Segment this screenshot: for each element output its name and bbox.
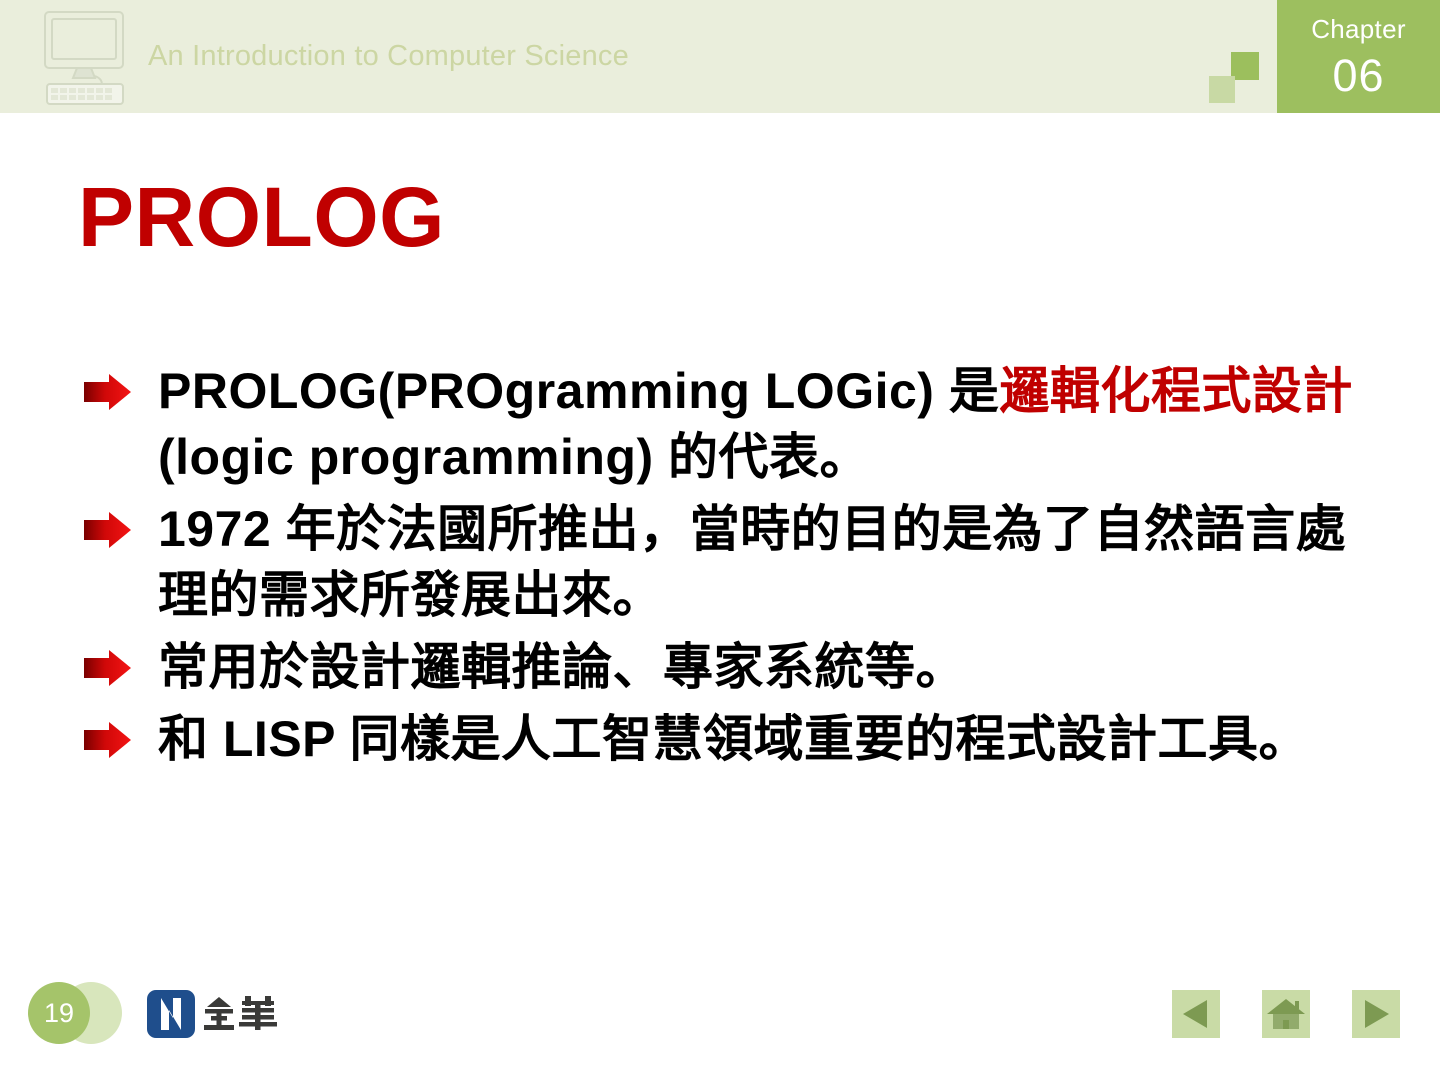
bullet-segment-1: 邏輯化程式設計 xyxy=(999,363,1353,419)
computer-illustration-icon xyxy=(33,8,143,108)
list-item-text: 常用於設計邏輯推論、專家系統等。 xyxy=(158,639,966,695)
previous-slide-button[interactable] xyxy=(1172,990,1220,1038)
list-item: 常用於設計邏輯推論、專家系統等。 xyxy=(82,634,1382,700)
list-item: 和 LISP 同樣是人工智慧領域重要的程式設計工具。 xyxy=(82,706,1382,772)
list-item-text: 和 LISP 同樣是人工智慧領域重要的程式設計工具。 xyxy=(158,711,1309,767)
red-arrow-bullet-icon xyxy=(82,510,134,550)
header-decor-squares xyxy=(1206,52,1266,104)
bullet-segment-0: PROLOG(PROgramming LOGic) 是 xyxy=(158,363,999,419)
square-dark-green-icon xyxy=(1231,52,1259,80)
chuanhwa-logo-icon xyxy=(147,988,307,1040)
red-arrow-bullet-icon xyxy=(82,720,134,760)
triangle-left-icon xyxy=(1172,990,1220,1038)
slide-header: An Introduction to Computer Science Chap… xyxy=(0,0,1440,113)
list-item-text: 1972 年於法國所推出，當時的目的是為了自然語言處理的需求所發展出來。 xyxy=(158,501,1346,623)
list-item: 1972 年於法國所推出，當時的目的是為了自然語言處理的需求所發展出來。 xyxy=(82,496,1382,628)
slide-navigation xyxy=(1172,990,1402,1042)
bullet-list: PROLOG(PROgramming LOGic) 是邏輯化程式設計 (logi… xyxy=(82,358,1382,778)
page-number-badge: 19 xyxy=(22,978,132,1048)
list-item-text: PROLOG(PROgramming LOGic) 是邏輯化程式設計 (logi… xyxy=(158,363,1353,485)
page-number-text: 19 xyxy=(28,982,90,1044)
chapter-badge: Chapter 06 xyxy=(1277,0,1440,113)
bullet-segment-2: (logic programming) 的代表。 xyxy=(158,429,870,485)
chapter-number: 06 xyxy=(1277,50,1440,102)
triangle-right-icon xyxy=(1352,990,1400,1038)
next-slide-button[interactable] xyxy=(1352,990,1400,1038)
square-light-green-icon xyxy=(1209,76,1235,103)
red-arrow-bullet-icon xyxy=(82,648,134,688)
page-title: PROLOG xyxy=(78,175,445,259)
course-title: An Introduction to Computer Science xyxy=(148,40,629,73)
chapter-label: Chapter xyxy=(1277,14,1440,45)
slide-root: An Introduction to Computer Science Chap… xyxy=(0,0,1440,1080)
house-icon xyxy=(1262,990,1310,1038)
home-slide-button[interactable] xyxy=(1262,990,1310,1038)
red-arrow-bullet-icon xyxy=(82,372,134,412)
list-item: PROLOG(PROgramming LOGic) 是邏輯化程式設計 (logi… xyxy=(82,358,1382,490)
